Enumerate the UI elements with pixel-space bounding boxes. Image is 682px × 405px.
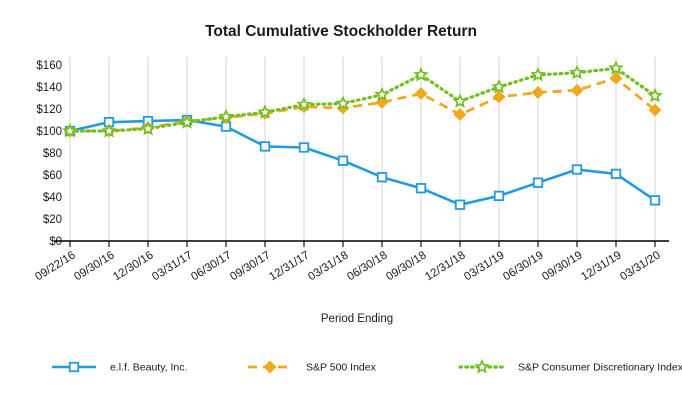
marker-square [534, 178, 543, 187]
y-tick-label: $0 [49, 236, 62, 248]
marker-square [495, 192, 504, 201]
marker-square [70, 363, 79, 372]
legend-label: S&P 500 Index [306, 361, 377, 373]
legend-label: S&P Consumer Discretionary Index [518, 361, 682, 373]
marker-square [261, 142, 270, 151]
y-tick-label: $160 [36, 60, 62, 72]
y-tick-label: $40 [43, 192, 62, 204]
marker-square [612, 170, 621, 179]
chart-title: Total Cumulative Stockholder Return [205, 23, 477, 40]
stockholder-return-chart: Total Cumulative Stockholder Return $0$2… [0, 0, 682, 400]
y-tick-label: $20 [43, 214, 62, 226]
y-tick-label: $80 [43, 148, 62, 160]
chart-legend: e.l.f. Beauty, Inc.S&P 500 IndexS&P Cons… [52, 361, 682, 373]
y-tick-label: $120 [36, 104, 62, 116]
marker-square [573, 165, 582, 174]
chart-background [0, 0, 682, 400]
legend-item-1[interactable]: e.l.f. Beauty, Inc. [52, 361, 187, 373]
marker-square [300, 143, 309, 152]
y-tick-label: $100 [36, 126, 62, 138]
marker-square [456, 200, 465, 209]
marker-square [339, 156, 348, 165]
chart-canvas: Total Cumulative Stockholder Return $0$2… [0, 0, 682, 400]
y-tick-label: $140 [36, 82, 62, 94]
y-tick-label: $60 [43, 170, 62, 182]
marker-square [651, 196, 660, 205]
legend-label: e.l.f. Beauty, Inc. [110, 361, 187, 373]
x-axis-title: Period Ending [321, 313, 393, 325]
marker-square [417, 184, 426, 193]
marker-square [378, 173, 387, 182]
